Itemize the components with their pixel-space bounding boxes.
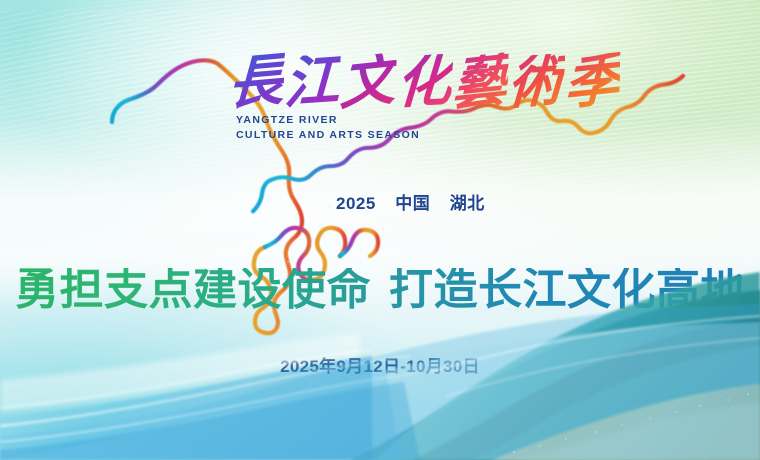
calligraphy-title: 長 江 文 化 藝 術 季 — [228, 44, 560, 122]
calligraphy-char-6: 術 — [507, 53, 566, 113]
event-location-line: 2025 中国 湖北 — [336, 189, 485, 214]
calligraphy-char-3: 文 — [339, 52, 397, 114]
headline-part-2: 打造长江文化高地 — [389, 265, 745, 314]
english-title-line-1: YANGTZE RIVER — [236, 113, 420, 128]
headline-part-1: 勇担支点建设使命 — [15, 265, 371, 314]
calligraphy-char-4: 化 — [395, 53, 454, 112]
calligraphy-char-2: 江 — [283, 53, 341, 113]
calligraphy-char-1: 長 — [227, 52, 285, 113]
main-headline: 勇担支点建设使命打造长江文化高地 — [0, 268, 760, 312]
calligraphy-char-7: 季 — [564, 52, 621, 114]
event-dates: 2025年9月12日-10月30日 — [0, 352, 760, 377]
poster-canvas: 長 江 文 化 藝 術 季 YANGTZE RIVER CULTURE AND … — [0, 0, 760, 460]
calligraphy-char-5: 藝 — [451, 52, 509, 114]
english-title-line-2: CULTURE AND ARTS SEASON — [236, 128, 420, 143]
event-country: 中国 — [395, 194, 430, 213]
event-province: 湖北 — [450, 194, 485, 213]
event-year: 2025 — [336, 194, 376, 213]
english-title: YANGTZE RIVER CULTURE AND ARTS SEASON — [236, 113, 420, 143]
